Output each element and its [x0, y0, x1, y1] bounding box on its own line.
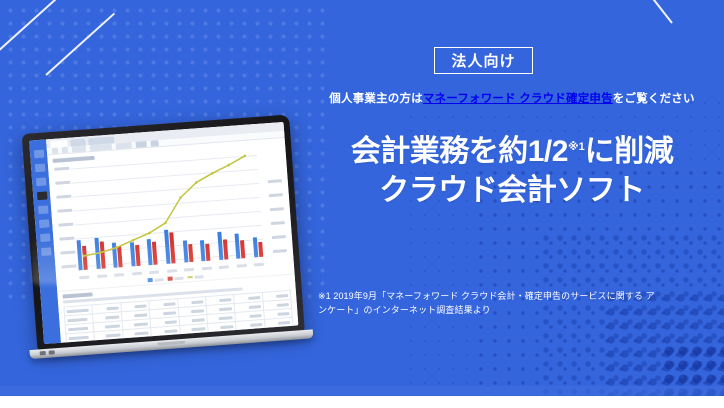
bottom-white-strip: [0, 396, 724, 408]
laptop-notch: [157, 341, 185, 346]
headline-line-1: 会計業務を約1/2※1に削減: [300, 134, 724, 171]
headline-line-2: クラウド会計ソフト: [300, 173, 724, 210]
toolbar-print-button[interactable]: [150, 140, 158, 147]
sidebar-icon-report[interactable]: [37, 205, 48, 214]
hero-text-column: 法人向け 個人事業主の方はマネーフォワード クラウド確定申告をご覧ください 会計…: [300, 0, 724, 396]
headline-line-1-tail: に削減: [585, 135, 674, 168]
sidebar-icon-chart[interactable]: [35, 178, 46, 187]
sidebar-icon-dashboard[interactable]: [33, 150, 44, 159]
subtitle-prefix: 個人事業主の方は: [329, 93, 423, 105]
subtitle-suffix: をご覧ください: [613, 93, 695, 105]
toolbar-accounting[interactable]: [52, 148, 58, 154]
port-1: [40, 351, 46, 355]
app-content: [46, 122, 298, 343]
audience-badge-label: 法人向け: [451, 50, 515, 71]
toolbar-update-button[interactable]: [136, 141, 147, 148]
subtitle-line: 個人事業主の方はマネーフォワード クラウド確定申告をご覧ください: [300, 90, 724, 106]
laptop-screen: [29, 122, 298, 344]
sidebar-icon-settings[interactable]: [38, 219, 49, 228]
page-title: 会計業務を約1/2※1に削減 クラウド会計ソフト: [300, 134, 724, 209]
headline-footnote-mark: ※1: [568, 141, 585, 153]
chart-title: [53, 156, 95, 163]
laptop-ports: [40, 350, 55, 355]
headline-line-1-main: 会計業務を約1/2: [351, 135, 568, 168]
port-2: [49, 350, 55, 354]
audience-badge: 法人向け: [434, 47, 533, 74]
laptop-lid: [22, 115, 305, 352]
toolbar-period[interactable]: [72, 145, 86, 152]
toolbar-year[interactable]: [62, 147, 68, 153]
table-title: [63, 292, 93, 298]
sidebar-icon-document[interactable]: [34, 164, 45, 173]
kakuteishinkoku-link[interactable]: マネーフォワード クラウド確定申告: [423, 93, 613, 105]
toolbar-aggregation[interactable]: [116, 142, 132, 149]
footnote-text: ※1 2019年9月「マネーフォワード クラウド会計・確定申告のサービスに関する…: [318, 290, 658, 318]
sidebar-icon-cashflow-active[interactable]: [36, 191, 47, 200]
hero-banner: 法人向け 個人事業主の方はマネーフォワード クラウド確定申告をご覧ください 会計…: [0, 0, 724, 408]
laptop-reflection: [32, 236, 282, 284]
bottom-veil: [0, 386, 724, 396]
